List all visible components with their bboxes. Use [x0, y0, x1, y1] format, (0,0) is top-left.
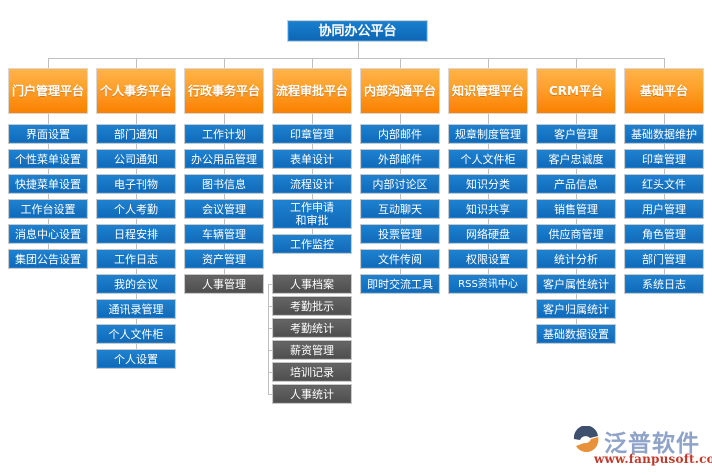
node-personal-affairs-2[interactable]: 电子刊物 — [96, 174, 176, 194]
node-knowledge-mgmt-0-label: 规章制度管理 — [451, 128, 525, 141]
node-base-platform-6-label: 系统日志 — [627, 278, 701, 291]
node-crm-7[interactable]: 客户归属统计 — [536, 299, 616, 319]
node-portal-0-label: 界面设置 — [11, 128, 85, 141]
node-crm-3[interactable]: 销售管理 — [536, 199, 616, 219]
node-personal-affairs-6-label: 我的会议 — [99, 278, 173, 291]
node-process-approval-1-label: 表单设计 — [275, 153, 349, 166]
node-portal-5-label: 集团公告设置 — [11, 253, 85, 266]
node-personal-affairs-8[interactable]: 个人文件柜 — [96, 324, 176, 344]
node-knowledge-mgmt-4-label: 网络硬盘 — [451, 228, 525, 241]
node-admin-affairs-3-label: 会议管理 — [187, 203, 261, 216]
node-knowledge-mgmt-4[interactable]: 网络硬盘 — [448, 224, 528, 244]
bus-drop-line-portal — [48, 58, 49, 68]
node-personal-affairs-4[interactable]: 日程安排 — [96, 224, 176, 244]
node-personal-affairs-9[interactable]: 个人设置 — [96, 349, 176, 369]
node-knowledge-mgmt-3-label: 知识共享 — [451, 203, 525, 216]
node-crm-3-label: 销售管理 — [539, 203, 613, 216]
node-crm-2[interactable]: 产品信息 — [536, 174, 616, 194]
node-process-approval-0[interactable]: 印章管理 — [272, 124, 352, 144]
bus-drop-line-knowledge-mgmt — [488, 58, 489, 68]
node-crm-8-label: 基础数据设置 — [539, 328, 613, 341]
node-knowledge-mgmt-6-label: RSS资讯中心 — [451, 278, 525, 291]
root-trunk-line — [358, 42, 359, 58]
node-base-platform-1[interactable]: 印章管理 — [624, 149, 704, 169]
root-node[interactable]: 协同办公平台 — [287, 20, 428, 42]
column-header-admin-affairs[interactable]: 行政事务平台 — [184, 68, 264, 114]
node-process-approval-1[interactable]: 表单设计 — [272, 149, 352, 169]
node-hr-child-5[interactable]: 人事统计 — [272, 384, 352, 404]
node-personal-affairs-1-label: 公司通知 — [99, 153, 173, 166]
node-process-approval-0-label: 印章管理 — [275, 128, 349, 141]
node-admin-affairs-5[interactable]: 资产管理 — [184, 249, 264, 269]
node-internal-comm-3[interactable]: 互动聊天 — [360, 199, 440, 219]
hr-spine-line — [268, 284, 269, 394]
node-base-platform-2[interactable]: 红头文件 — [624, 174, 704, 194]
node-admin-affairs-3[interactable]: 会议管理 — [184, 199, 264, 219]
node-crm-0-label: 客户管理 — [539, 128, 613, 141]
column-header-admin-affairs-label: 行政事务平台 — [187, 84, 261, 98]
node-admin-affairs-1-label: 办公用品管理 — [187, 153, 261, 166]
node-hr-child-0[interactable]: 人事档案 — [272, 274, 352, 294]
node-process-approval-3[interactable]: 工作申请 和审批 — [272, 199, 352, 229]
node-hr-child-1[interactable]: 考勤批示 — [272, 296, 352, 316]
vendor-logo: 泛普软件 www.fanpusoft.com — [570, 419, 706, 471]
node-portal-1[interactable]: 个性菜单设置 — [8, 149, 88, 169]
node-internal-comm-4[interactable]: 投票管理 — [360, 224, 440, 244]
node-portal-2[interactable]: 快捷菜单设置 — [8, 174, 88, 194]
node-personal-affairs-2-label: 电子刊物 — [99, 178, 173, 191]
column-header-process-approval-label: 流程审批平台 — [275, 84, 349, 98]
node-hr-child-1-label: 考勤批示 — [275, 300, 349, 313]
node-portal-4[interactable]: 消息中心设置 — [8, 224, 88, 244]
node-hr-child-4[interactable]: 培训记录 — [272, 362, 352, 382]
node-crm-6-label: 客户属性统计 — [539, 278, 613, 291]
node-personal-affairs-9-label: 个人设置 — [99, 353, 173, 366]
column-header-crm[interactable]: CRM平台 — [536, 68, 616, 114]
node-personal-affairs-8-label: 个人文件柜 — [99, 328, 173, 341]
node-internal-comm-1[interactable]: 外部邮件 — [360, 149, 440, 169]
node-personal-affairs-3-label: 个人考勤 — [99, 203, 173, 216]
node-portal-4-label: 消息中心设置 — [11, 228, 85, 241]
node-hr-child-2-label: 考勤统计 — [275, 322, 349, 335]
node-personal-affairs-5[interactable]: 工作日志 — [96, 249, 176, 269]
node-knowledge-mgmt-0[interactable]: 规章制度管理 — [448, 124, 528, 144]
node-internal-comm-3-label: 互动聊天 — [363, 203, 437, 216]
column-header-internal-comm-label: 内部沟通平台 — [363, 84, 437, 98]
bus-drop-line-process-approval — [312, 58, 313, 68]
column-header-base-platform-label: 基础平台 — [627, 84, 701, 98]
node-crm-1[interactable]: 客户忠诚度 — [536, 149, 616, 169]
node-internal-comm-6[interactable]: 即时交流工具 — [360, 274, 440, 294]
connector-portal-0 — [48, 114, 49, 124]
node-base-platform-5-label: 部门管理 — [627, 253, 701, 266]
column-header-personal-affairs[interactable]: 个人事务平台 — [96, 68, 176, 114]
node-personal-affairs-1[interactable]: 公司通知 — [96, 149, 176, 169]
node-hr-child-3-label: 薪资管理 — [275, 344, 349, 357]
column-header-knowledge-mgmt[interactable]: 知识管理平台 — [448, 68, 528, 114]
node-crm-4-label: 供应商管理 — [539, 228, 613, 241]
column-header-knowledge-mgmt-label: 知识管理平台 — [451, 84, 525, 98]
node-knowledge-mgmt-5[interactable]: 权限设置 — [448, 249, 528, 269]
node-admin-affairs-hr[interactable]: 人事管理 — [184, 274, 264, 294]
node-personal-affairs-3[interactable]: 个人考勤 — [96, 199, 176, 219]
node-process-approval-2[interactable]: 流程设计 — [272, 174, 352, 194]
node-hr-child-2[interactable]: 考勤统计 — [272, 318, 352, 338]
node-portal-5[interactable]: 集团公告设置 — [8, 249, 88, 269]
node-crm-2-label: 产品信息 — [539, 178, 613, 191]
node-admin-affairs-0[interactable]: 工作计划 — [184, 124, 264, 144]
node-crm-7-label: 客户归属统计 — [539, 303, 613, 316]
node-knowledge-mgmt-2-label: 知识分类 — [451, 178, 525, 191]
column-header-crm-label: CRM平台 — [539, 84, 613, 98]
bus-drop-line-admin-affairs — [224, 58, 225, 68]
node-crm-5[interactable]: 统计分析 — [536, 249, 616, 269]
node-admin-affairs-0-label: 工作计划 — [187, 128, 261, 141]
node-process-approval-3-label: 工作申请 和审批 — [275, 201, 349, 227]
node-crm-8[interactable]: 基础数据设置 — [536, 324, 616, 344]
logo-url-text: www.fanpusoft.com — [594, 452, 712, 466]
node-internal-comm-5-label: 文件传阅 — [363, 253, 437, 266]
connector-process-approval-0 — [312, 114, 313, 124]
node-portal-2-label: 快捷菜单设置 — [11, 178, 85, 191]
node-process-approval-4-label: 工作监控 — [275, 238, 349, 251]
node-knowledge-mgmt-2[interactable]: 知识分类 — [448, 174, 528, 194]
node-base-platform-5[interactable]: 部门管理 — [624, 249, 704, 269]
node-knowledge-mgmt-6[interactable]: RSS资讯中心 — [448, 274, 528, 294]
node-base-platform-0[interactable]: 基础数据维护 — [624, 124, 704, 144]
bus-drop-line-base-platform — [664, 58, 665, 68]
org-chart-canvas: 协同办公平台门户管理平台界面设置个性菜单设置快捷菜单设置工作台设置消息中心设置集… — [0, 0, 712, 475]
bus-drop-line-crm — [576, 58, 577, 68]
column-header-personal-affairs-label: 个人事务平台 — [99, 84, 173, 98]
node-admin-affairs-2-label: 图书信息 — [187, 178, 261, 191]
node-knowledge-mgmt-1[interactable]: 个人文件柜 — [448, 149, 528, 169]
node-knowledge-mgmt-5-label: 权限设置 — [451, 253, 525, 266]
node-base-platform-3-label: 用户管理 — [627, 203, 701, 216]
node-crm-1-label: 客户忠诚度 — [539, 153, 613, 166]
node-base-platform-3[interactable]: 用户管理 — [624, 199, 704, 219]
node-internal-comm-0[interactable]: 内部邮件 — [360, 124, 440, 144]
node-personal-affairs-4-label: 日程安排 — [99, 228, 173, 241]
node-internal-comm-2-label: 内部讨论区 — [363, 178, 437, 191]
node-personal-affairs-0[interactable]: 部门通知 — [96, 124, 176, 144]
column-header-internal-comm[interactable]: 内部沟通平台 — [360, 68, 440, 114]
header-bus-line — [48, 58, 664, 59]
node-personal-affairs-5-label: 工作日志 — [99, 253, 173, 266]
connector-base-platform-0 — [664, 114, 665, 124]
column-header-base-platform[interactable]: 基础平台 — [624, 68, 704, 114]
node-hr-child-4-label: 培训记录 — [275, 366, 349, 379]
node-crm-6[interactable]: 客户属性统计 — [536, 274, 616, 294]
node-internal-comm-5[interactable]: 文件传阅 — [360, 249, 440, 269]
node-hr-child-0-label: 人事档案 — [275, 278, 349, 291]
node-personal-affairs-7-label: 通讯录管理 — [99, 303, 173, 316]
node-admin-affairs-4[interactable]: 车辆管理 — [184, 224, 264, 244]
node-portal-3-label: 工作台设置 — [11, 203, 85, 216]
node-process-approval-4[interactable]: 工作监控 — [272, 234, 352, 254]
node-base-platform-4[interactable]: 角色管理 — [624, 224, 704, 244]
node-personal-affairs-7[interactable]: 通讯录管理 — [96, 299, 176, 319]
node-base-platform-0-label: 基础数据维护 — [627, 128, 701, 141]
node-hr-child-5-label: 人事统计 — [275, 388, 349, 401]
connector-personal-affairs-0 — [136, 114, 137, 124]
node-admin-affairs-2[interactable]: 图书信息 — [184, 174, 264, 194]
node-internal-comm-4-label: 投票管理 — [363, 228, 437, 241]
node-crm-0[interactable]: 客户管理 — [536, 124, 616, 144]
node-admin-affairs-hr-label: 人事管理 — [187, 278, 261, 291]
node-crm-5-label: 统计分析 — [539, 253, 613, 266]
node-personal-affairs-0-label: 部门通知 — [99, 128, 173, 141]
connector-admin-affairs-0 — [224, 114, 225, 124]
column-header-portal[interactable]: 门户管理平台 — [8, 68, 88, 114]
node-internal-comm-6-label: 即时交流工具 — [363, 278, 437, 291]
node-portal-1-label: 个性菜单设置 — [11, 153, 85, 166]
node-hr-child-3[interactable]: 薪资管理 — [272, 340, 352, 360]
node-crm-4[interactable]: 供应商管理 — [536, 224, 616, 244]
bus-drop-line-internal-comm — [400, 58, 401, 68]
node-knowledge-mgmt-1-label: 个人文件柜 — [451, 153, 525, 166]
connector-internal-comm-0 — [400, 114, 401, 124]
column-header-portal-label: 门户管理平台 — [11, 84, 85, 98]
column-header-process-approval[interactable]: 流程审批平台 — [272, 68, 352, 114]
node-process-approval-2-label: 流程设计 — [275, 178, 349, 191]
bus-drop-line-personal-affairs — [136, 58, 137, 68]
node-base-platform-6[interactable]: 系统日志 — [624, 274, 704, 294]
node-base-platform-4-label: 角色管理 — [627, 228, 701, 241]
connector-crm-0 — [576, 114, 577, 124]
node-base-platform-2-label: 红头文件 — [627, 178, 701, 191]
node-admin-affairs-1[interactable]: 办公用品管理 — [184, 149, 264, 169]
node-internal-comm-2[interactable]: 内部讨论区 — [360, 174, 440, 194]
node-base-platform-1-label: 印章管理 — [627, 153, 701, 166]
node-internal-comm-0-label: 内部邮件 — [363, 128, 437, 141]
logo-mark-icon — [572, 426, 600, 452]
connector-knowledge-mgmt-0 — [488, 114, 489, 124]
node-admin-affairs-4-label: 车辆管理 — [187, 228, 261, 241]
root-node-label: 协同办公平台 — [290, 25, 425, 38]
node-admin-affairs-5-label: 资产管理 — [187, 253, 261, 266]
node-internal-comm-1-label: 外部邮件 — [363, 153, 437, 166]
node-portal-0[interactable]: 界面设置 — [8, 124, 88, 144]
node-portal-3[interactable]: 工作台设置 — [8, 199, 88, 219]
node-personal-affairs-6[interactable]: 我的会议 — [96, 274, 176, 294]
node-knowledge-mgmt-3[interactable]: 知识共享 — [448, 199, 528, 219]
